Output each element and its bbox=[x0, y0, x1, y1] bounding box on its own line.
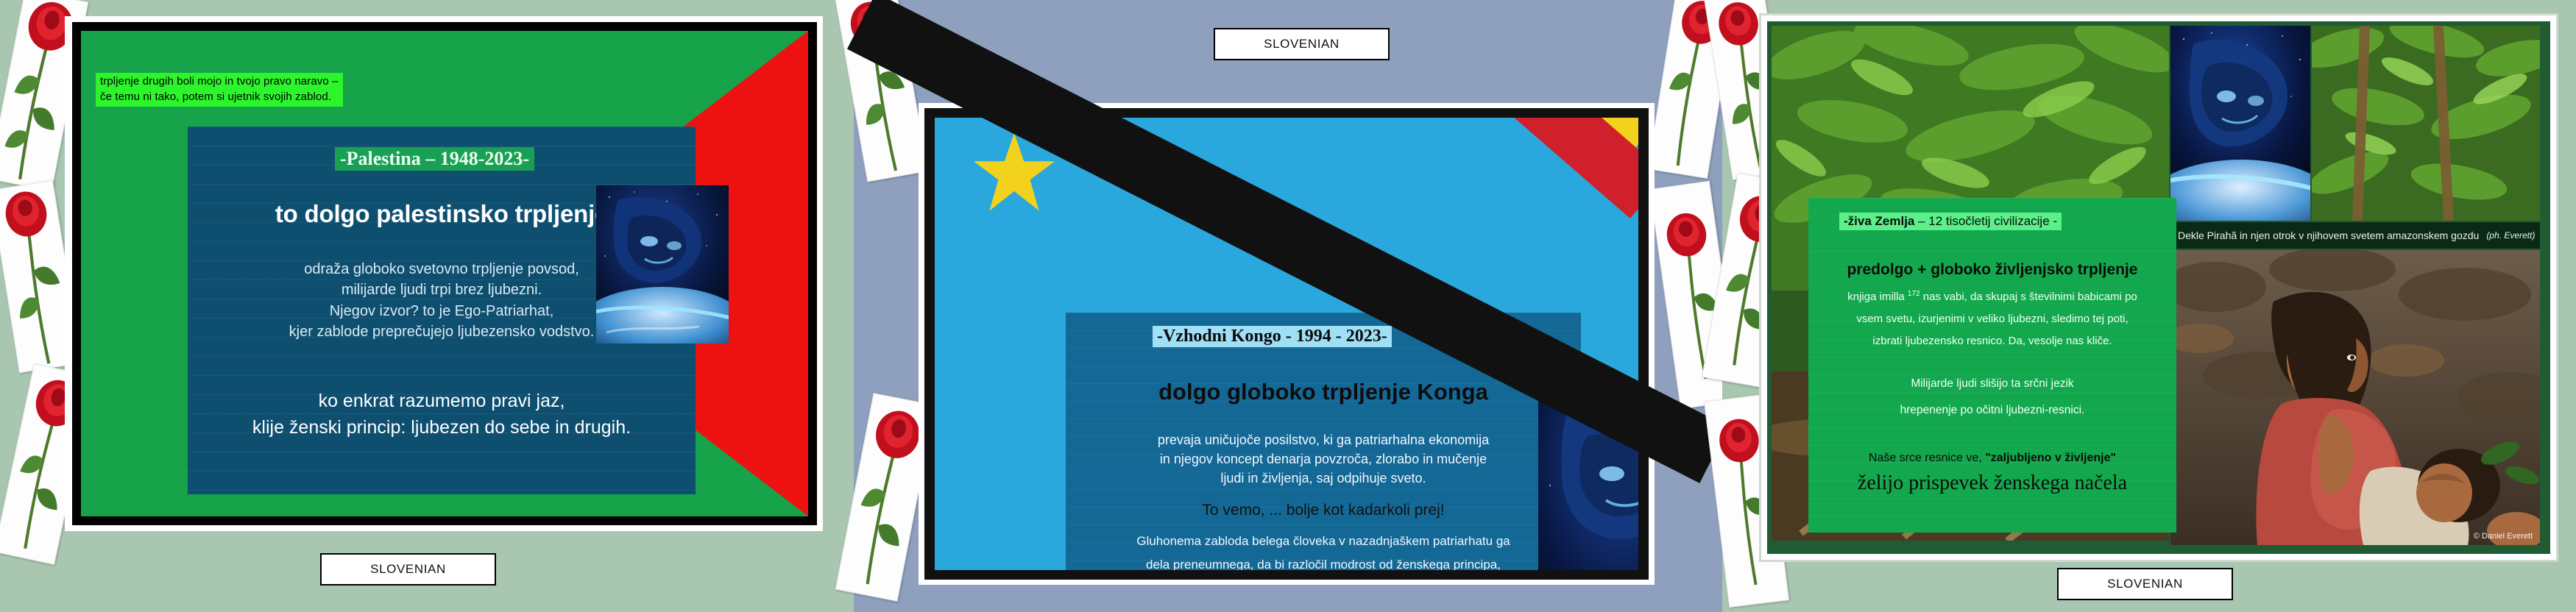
slovenian-tag-button[interactable]: SLOVENIAN bbox=[2057, 568, 2233, 600]
congo-body-paragraph-1: prevaja uničujoče posilstvo, ki ga patri… bbox=[1066, 430, 1581, 488]
palestine-footer-text: ko enkrat razumemo pravi jaz, klije žens… bbox=[188, 388, 696, 441]
slide-strip: trpljenje drugih boli mojo in tvojo prav… bbox=[0, 0, 2576, 612]
photo-caption-credit: (ph. Everett) bbox=[2486, 230, 2535, 241]
living-earth-title-rest: – 12 tisočletij civilizacije - bbox=[1914, 214, 2057, 228]
panel-palestine: trpljenje drugih boli mojo in tvojo prav… bbox=[0, 0, 854, 612]
living-earth-title: -živa Zemlja – 12 tisočletij civilizacij… bbox=[1839, 213, 2062, 230]
living-earth-body-text: knjiga imilla 172 nas vabi, da skupaj s … bbox=[1819, 286, 2166, 352]
congo-body-emphasis: To vemo, ... bolje kot kadarkoli prej! bbox=[1066, 500, 1581, 521]
svg-text:© Daniel Everett: © Daniel Everett bbox=[2474, 532, 2533, 541]
living-earth-title-strong: -živa Zemlja bbox=[1844, 214, 1914, 228]
living-earth-footer-line-1: Naše srce resnice ve, "zaljubljeno v živ… bbox=[1816, 452, 2169, 465]
body-pre: knjiga imilla bbox=[1847, 291, 1908, 303]
slovenian-tag-button[interactable]: SLOVENIAN bbox=[320, 553, 496, 586]
slovenian-tag-label: SLOVENIAN bbox=[1264, 37, 1340, 51]
palestine-banner-text: trpljenje drugih boli mojo in tvojo prav… bbox=[96, 73, 343, 107]
cosmic-woman-earth-photo bbox=[596, 185, 729, 344]
slide-green-frame: Dekle Pirahã in njen otrok v njihovem sv… bbox=[1767, 21, 2550, 554]
slovenian-tag-label: SLOVENIAN bbox=[2107, 577, 2183, 591]
living-earth-middle-text: Milijarde ljudi slišijo ta srčni jezik h… bbox=[1819, 371, 2166, 423]
amazon-jungle-photo-right bbox=[2312, 26, 2540, 221]
living-earth-text-box: -živa Zemlja – 12 tisočletij civilizacij… bbox=[1808, 198, 2176, 533]
slide-white-mat: Dekle Pirahã in njen otrok v njihovem sv… bbox=[1759, 13, 2558, 562]
living-earth-footer-line-2: želijo prispevek ženskega načela bbox=[1808, 472, 2176, 495]
slovenian-tag-label: SLOVENIAN bbox=[370, 562, 446, 577]
footer-pre: Naše srce resnice ve, bbox=[1869, 452, 1985, 464]
body-superscript: 172 bbox=[1908, 290, 1920, 298]
slovenian-tag-button[interactable]: SLOVENIAN bbox=[1214, 28, 1390, 60]
piraha-mother-child-photo: © Daniel Everett bbox=[2170, 250, 2540, 545]
congo-body-paragraph-2: Gluhonema zabloda belega človeka v nazad… bbox=[1066, 530, 1581, 570]
cosmic-woman-earth-photo bbox=[2170, 26, 2310, 221]
photo-caption-text: Dekle Pirahã in njen otrok v njihovem sv… bbox=[2178, 230, 2479, 241]
palestine-flag-canvas: trpljenje drugih boli mojo in tvojo prav… bbox=[81, 31, 808, 516]
panel-living-earth: Dekle Pirahã in njen otrok v njihovem sv… bbox=[1722, 0, 2576, 612]
photo-caption: Dekle Pirahã in njen otrok v njihovem sv… bbox=[2170, 222, 2540, 249]
living-earth-headline: predolgo + globoko življenjsko trpljenje bbox=[1808, 261, 2176, 279]
footer-quote: "zaljubljeno v življenje" bbox=[1985, 452, 2116, 464]
congo-title: -Vzhodni Kongo - 1994 - 2023- bbox=[1153, 326, 1392, 347]
panel-congo: SLOVENIAN -Vzhodni Kongo - 1994 - 2023- … bbox=[854, 0, 1722, 612]
palestine-title: -Palestina – 1948-2023- bbox=[335, 147, 534, 171]
